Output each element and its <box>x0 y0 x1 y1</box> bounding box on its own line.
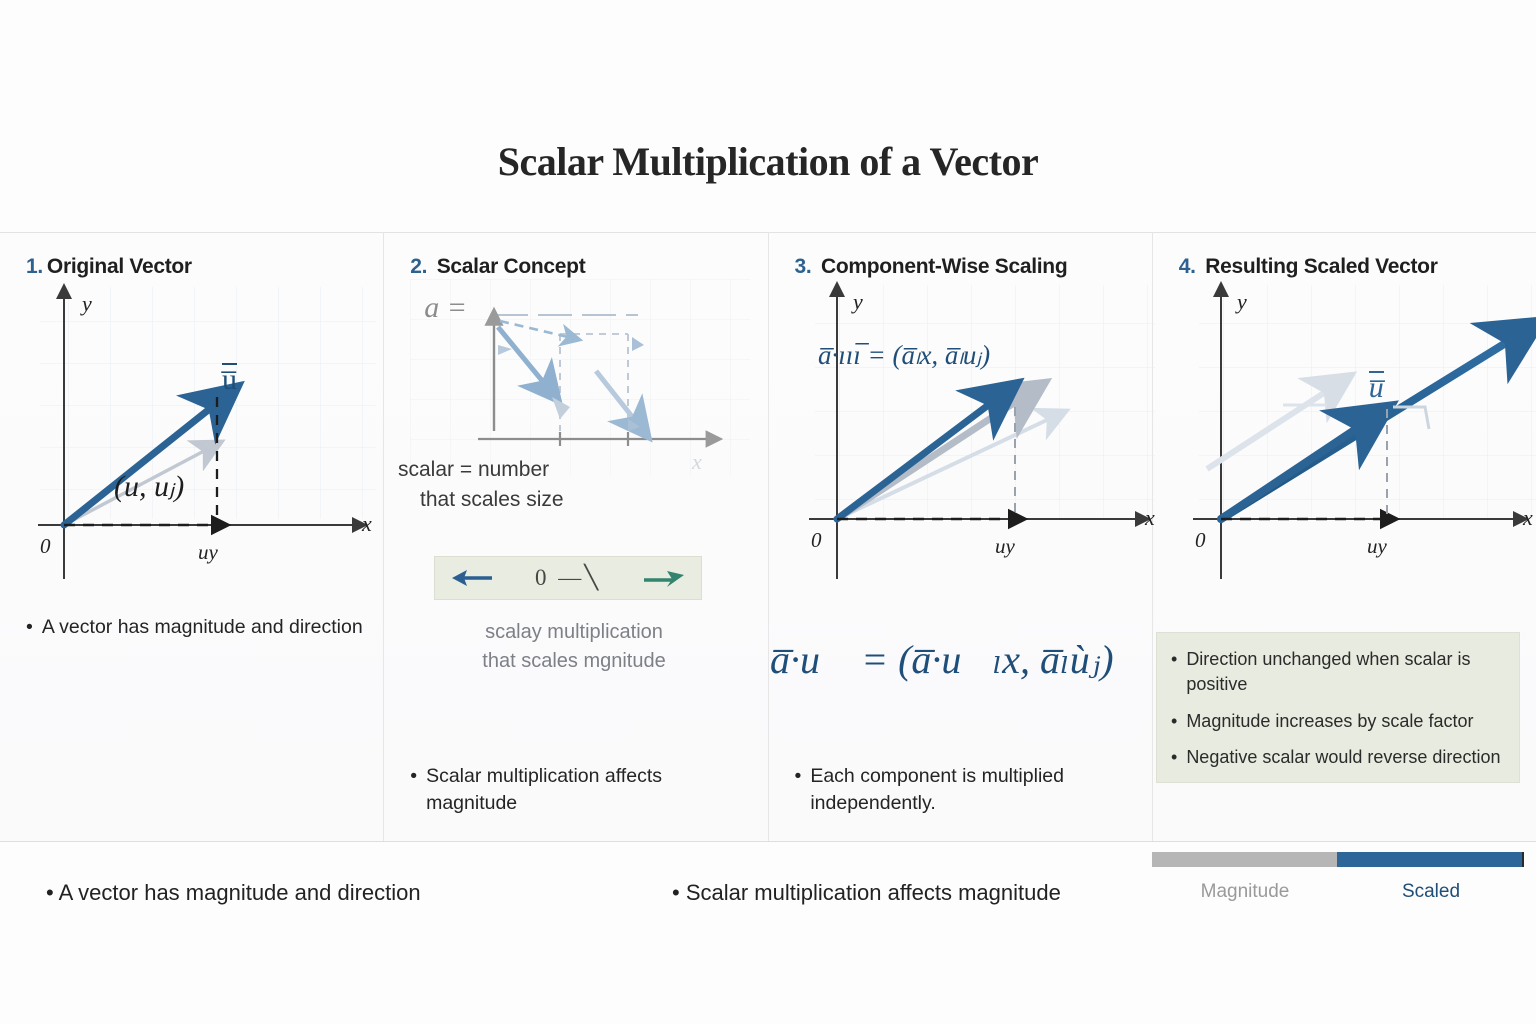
panel-1-bullets: • A vector has magnitude and direction <box>26 614 367 651</box>
panel-4-number: 4. <box>1179 255 1196 278</box>
bullet-glyph: • <box>1171 647 1177 697</box>
callout-mid-text: 0 —╲ <box>535 565 601 591</box>
slide-page: Scalar Multiplication of a Vector 1.Orig… <box>0 0 1536 1024</box>
list-item: • Negative scalar would reverse directio… <box>1171 745 1503 770</box>
panel-2-number: 2. <box>410 255 427 278</box>
list-item: • Scalar multiplication affects magnitud… <box>410 763 751 818</box>
panel-2-subcaption: scalay multiplication that scales mgnitu… <box>424 618 724 676</box>
page-title: Scalar Multiplication of a Vector <box>0 138 1536 185</box>
panel-original-vector: 1.Original Vector <box>0 233 384 841</box>
panel-1-number: 1. <box>26 255 43 278</box>
bullet-glyph: • <box>1171 709 1177 734</box>
panel-2-caption-line1: scalar = number <box>398 455 718 485</box>
magnitude-scale-legend: Magnitude Scaled <box>1152 852 1524 903</box>
panel-3-graph: y x 0 uy <box>795 279 1134 579</box>
bullet-text: Scalar multiplication affects magnitude <box>426 763 751 818</box>
svg-text:uy: uy <box>198 540 219 564</box>
legend-segment-scaled <box>1337 852 1522 867</box>
panel-component-wise-scaling: 3. Component-Wise Scaling <box>769 233 1153 841</box>
panel-2-sketch: x a = <box>410 279 749 479</box>
svg-text:x: x <box>361 511 372 536</box>
panel-1-vector-label: u̅ <box>222 363 237 397</box>
bullet-glyph: • <box>1171 745 1177 770</box>
footer-bullet-2: • Scalar multiplication affects magnitud… <box>672 880 1061 906</box>
bullet-text: A vector has magnitude and direction <box>42 614 367 642</box>
panel-1-title: Original Vector <box>47 255 192 278</box>
panel-3-heading: 3. Component-Wise Scaling <box>795 255 1134 279</box>
bullet-glyph: • <box>46 880 54 905</box>
panel-3-formula-big: a̅·u⃗ = (a̅·u⃗ₗx, a̅ₗùⱼ) <box>770 636 1114 683</box>
panel-2-sub-line1: scalay multiplication <box>424 618 724 647</box>
bullet-text: Negative scalar would reverse direction <box>1186 745 1503 770</box>
footer-bullet-1: • A vector has magnitude and direction <box>46 880 421 906</box>
bullet-glyph: • <box>672 880 680 905</box>
panel-1-graph: y x 0 uy u̅ (u, uⱼ) <box>26 279 365 579</box>
legend-bar <box>1152 852 1524 867</box>
legend-label-magnitude: Magnitude <box>1152 881 1338 903</box>
svg-text:y: y <box>80 291 92 316</box>
panel-1-heading: 1.Original Vector <box>26 255 365 279</box>
list-item: • Each component is multiplied independe… <box>795 763 1136 818</box>
scalar-direction-callout: 0 —╲ <box>434 556 702 600</box>
bullet-text: Each component is multiplied independent… <box>810 763 1135 818</box>
panel-4-notes-box: • Direction unchanged when scalar is pos… <box>1156 632 1520 783</box>
svg-text:uy: uy <box>995 534 1016 558</box>
bullet-text: Direction unchanged when scalar is posit… <box>1186 647 1503 697</box>
svg-text:0: 0 <box>811 528 822 552</box>
right-arrow-icon <box>643 567 685 589</box>
panel-1-point-label: (u, uⱼ) <box>114 469 184 504</box>
panel-3-formula-small: a̅·ııı̅ = (a̅ₗx, a̅ₗuⱼ) <box>818 340 990 371</box>
panel-4-title: Resulting Scaled Vector <box>1205 255 1437 278</box>
left-arrow-icon <box>451 567 493 589</box>
panel-2-caption-line2: that scales size <box>420 485 718 515</box>
panel-2-caption: scalar = number that scales size <box>398 455 718 516</box>
bullet-text: A vector has magnitude and direction <box>59 880 421 905</box>
panel-4-vector-label: u̅ <box>1369 371 1384 405</box>
list-item: • A vector has magnitude and direction <box>26 614 367 642</box>
legend-labels: Magnitude Scaled <box>1152 881 1524 903</box>
panel-4-heading: 4. Resulting Scaled Vector <box>1179 255 1518 279</box>
svg-text:y: y <box>1235 289 1247 314</box>
svg-text:x: x <box>1522 505 1533 530</box>
panel-3-title: Component-Wise Scaling <box>821 255 1067 278</box>
panel-3-bullets: • Each component is multiplied independe… <box>795 763 1136 827</box>
bullet-text: Scalar multiplication affects magnitude <box>686 880 1061 905</box>
legend-label-scaled: Scaled <box>1338 881 1524 903</box>
svg-text:uy: uy <box>1367 534 1388 558</box>
svg-text:0: 0 <box>40 534 51 558</box>
svg-text:y: y <box>851 289 863 314</box>
bullet-glyph: • <box>410 763 417 818</box>
panel-2-scalar-symbol: a = <box>424 291 467 325</box>
list-item: • Magnitude increases by scale factor <box>1171 709 1503 734</box>
panel-2-bullets: • Scalar multiplication affects magnitud… <box>410 763 751 827</box>
panel-3-number: 3. <box>795 255 812 278</box>
panel-2-title: Scalar Concept <box>437 255 586 278</box>
legend-segment-magnitude <box>1152 852 1337 867</box>
bullet-text: Magnitude increases by scale factor <box>1186 709 1503 734</box>
panel-2-sub-line2: that scales mgnitude <box>424 647 724 676</box>
panel-4-graph: y x 0 uy u̅ <box>1179 279 1518 579</box>
bullet-glyph: • <box>26 614 33 642</box>
svg-text:0: 0 <box>1195 528 1206 552</box>
panel-scalar-concept: 2. Scalar Concept <box>384 233 768 841</box>
panel-2-heading: 2. Scalar Concept <box>410 255 749 279</box>
bullet-glyph: • <box>795 763 802 818</box>
list-item: • Direction unchanged when scalar is pos… <box>1171 647 1503 697</box>
